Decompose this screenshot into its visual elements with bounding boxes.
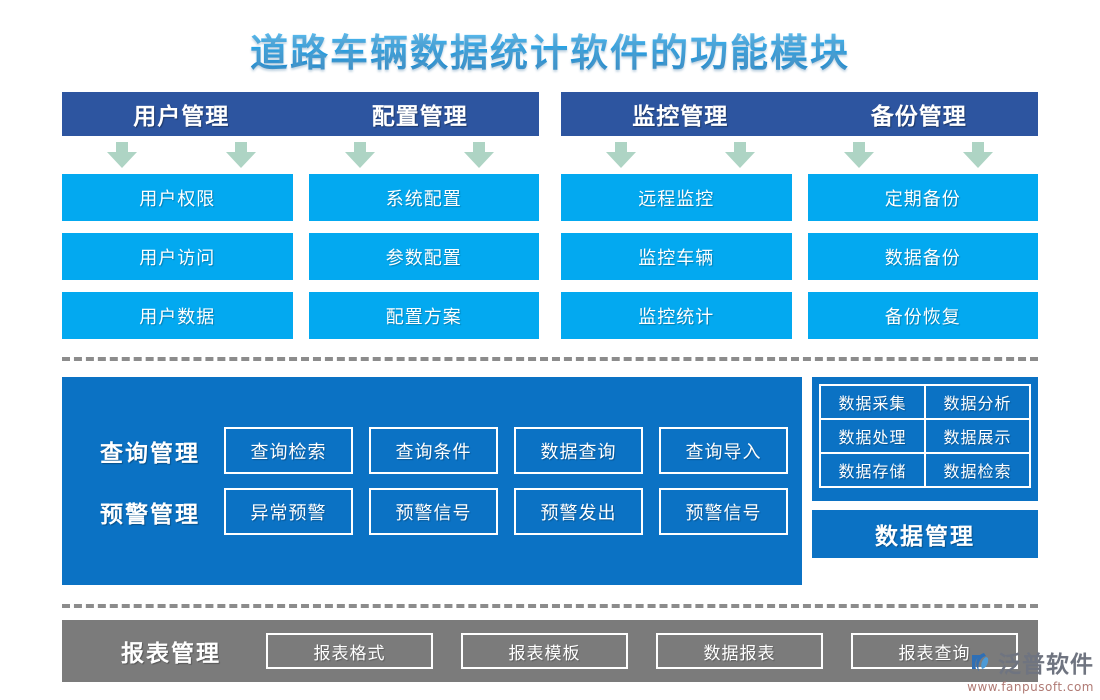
report-item[interactable]: 报表格式 xyxy=(266,633,433,669)
data-grid-wrapper: 数据采集 数据分析 数据处理 数据展示 数据存储 数据检索 xyxy=(812,377,1038,501)
module-cell[interactable]: 系统配置 xyxy=(309,174,540,221)
alert-items: 异常预警 预警信号 预警发出 预警信号 xyxy=(224,488,788,535)
down-arrow-icon xyxy=(844,142,874,168)
arrow-cell xyxy=(680,142,799,168)
module-group-user-config: 用户管理 配置管理 用户权限 用户访问 xyxy=(62,92,539,339)
down-arrow-icon xyxy=(606,142,636,168)
logo-top-row: 泛普软件 xyxy=(970,645,1094,679)
query-item[interactable]: 数据查询 xyxy=(514,427,643,474)
module-cell[interactable]: 参数配置 xyxy=(309,233,540,280)
group-header-backup-management: 备份管理 xyxy=(800,97,1039,131)
data-management-panel: 数据采集 数据分析 数据处理 数据展示 数据存储 数据检索 数据管理 xyxy=(812,377,1038,585)
alert-management-row: 预警管理 异常预警 预警信号 预警发出 预警信号 xyxy=(76,488,788,535)
module-cell[interactable]: 监控统计 xyxy=(561,292,792,339)
module-cell[interactable]: 用户数据 xyxy=(62,292,293,339)
group-header-user-management: 用户管理 xyxy=(62,97,301,131)
module-cell[interactable]: 用户权限 xyxy=(62,174,293,221)
data-item[interactable]: 数据检索 xyxy=(924,452,1031,488)
group-header-config-management: 配置管理 xyxy=(301,97,540,131)
data-grid: 数据采集 数据分析 数据处理 数据展示 数据存储 数据检索 xyxy=(820,385,1030,487)
alert-item[interactable]: 预警发出 xyxy=(514,488,643,535)
query-item[interactable]: 查询导入 xyxy=(659,427,788,474)
module-cell[interactable]: 远程监控 xyxy=(561,174,792,221)
logo-company-name: 泛普软件 xyxy=(998,645,1094,679)
arrow-cell xyxy=(800,142,919,168)
arrow-cell xyxy=(62,142,181,168)
module-cell[interactable]: 备份恢复 xyxy=(808,292,1039,339)
arrow-cell xyxy=(561,142,680,168)
report-item[interactable]: 数据报表 xyxy=(656,633,823,669)
down-arrow-icon xyxy=(725,142,755,168)
page-title: 道路车辆数据统计软件的功能模块 xyxy=(0,22,1100,77)
report-management-label: 报表管理 xyxy=(76,634,266,668)
group-header-monitor-management: 监控管理 xyxy=(561,97,800,131)
dashed-divider-bottom xyxy=(62,604,1038,608)
module-group-monitor-backup: 监控管理 备份管理 远程监控 监控车辆 xyxy=(561,92,1038,339)
middle-section: 查询管理 查询检索 查询条件 数据查询 查询导入 预警管理 异常预警 预警信号 … xyxy=(62,377,1038,585)
group-header-bar: 监控管理 备份管理 xyxy=(561,92,1038,136)
data-item[interactable]: 数据处理 xyxy=(819,418,926,454)
data-item[interactable]: 数据采集 xyxy=(819,384,926,420)
data-management-title: 数据管理 xyxy=(812,510,1038,558)
column-monitor-management: 远程监控 监控车辆 监控统计 xyxy=(561,174,792,339)
down-arrow-icon xyxy=(107,142,137,168)
module-groups: 用户管理 配置管理 用户权限 用户访问 xyxy=(62,92,1038,339)
module-cell[interactable]: 定期备份 xyxy=(808,174,1039,221)
group-columns: 用户权限 用户访问 用户数据 系统配置 参数配置 配置方案 xyxy=(62,174,539,339)
down-arrow-icon xyxy=(226,142,256,168)
dashed-divider-top xyxy=(62,357,1038,361)
arrow-row xyxy=(62,136,539,174)
logo-website-url: www.fanpusoft.com xyxy=(967,680,1094,694)
query-item[interactable]: 查询条件 xyxy=(369,427,498,474)
alert-item[interactable]: 异常预警 xyxy=(224,488,353,535)
group-columns: 远程监控 监控车辆 监控统计 定期备份 数据备份 备份恢复 xyxy=(561,174,1038,339)
arrow-row xyxy=(561,136,1038,174)
column-user-management: 用户权限 用户访问 用户数据 xyxy=(62,174,293,339)
data-item[interactable]: 数据展示 xyxy=(924,418,1031,454)
query-items: 查询检索 查询条件 数据查询 查询导入 xyxy=(224,427,788,474)
arrow-cell xyxy=(420,142,539,168)
diagram-canvas: 道路车辆数据统计软件的功能模块 用户管理 配置管理 xyxy=(0,0,1100,700)
alert-item[interactable]: 预警信号 xyxy=(369,488,498,535)
query-alert-panel: 查询管理 查询检索 查询条件 数据查询 查询导入 预警管理 异常预警 预警信号 … xyxy=(62,377,802,585)
query-management-label: 查询管理 xyxy=(76,434,224,468)
data-item[interactable]: 数据存储 xyxy=(819,452,926,488)
arrow-cell xyxy=(919,142,1038,168)
column-backup-management: 定期备份 数据备份 备份恢复 xyxy=(808,174,1039,339)
module-cell[interactable]: 用户访问 xyxy=(62,233,293,280)
alert-item[interactable]: 预警信号 xyxy=(659,488,788,535)
report-item[interactable]: 报表模板 xyxy=(461,633,628,669)
data-item[interactable]: 数据分析 xyxy=(924,384,1031,420)
query-management-row: 查询管理 查询检索 查询条件 数据查询 查询导入 xyxy=(76,427,788,474)
swoosh-logo-icon xyxy=(970,649,996,675)
group-header-bar: 用户管理 配置管理 xyxy=(62,92,539,136)
company-logo: 泛普软件 www.fanpusoft.com xyxy=(967,645,1094,694)
arrow-cell xyxy=(301,142,420,168)
module-cell[interactable]: 数据备份 xyxy=(808,233,1039,280)
report-management-section: 报表管理 报表格式 报表模板 数据报表 报表查询 xyxy=(62,620,1038,682)
down-arrow-icon xyxy=(464,142,494,168)
module-cell[interactable]: 监控车辆 xyxy=(561,233,792,280)
module-cell[interactable]: 配置方案 xyxy=(309,292,540,339)
down-arrow-icon xyxy=(963,142,993,168)
arrow-cell xyxy=(181,142,300,168)
alert-management-label: 预警管理 xyxy=(76,495,224,529)
report-items: 报表格式 报表模板 数据报表 报表查询 xyxy=(266,633,1024,669)
query-item[interactable]: 查询检索 xyxy=(224,427,353,474)
column-config-management: 系统配置 参数配置 配置方案 xyxy=(309,174,540,339)
down-arrow-icon xyxy=(345,142,375,168)
